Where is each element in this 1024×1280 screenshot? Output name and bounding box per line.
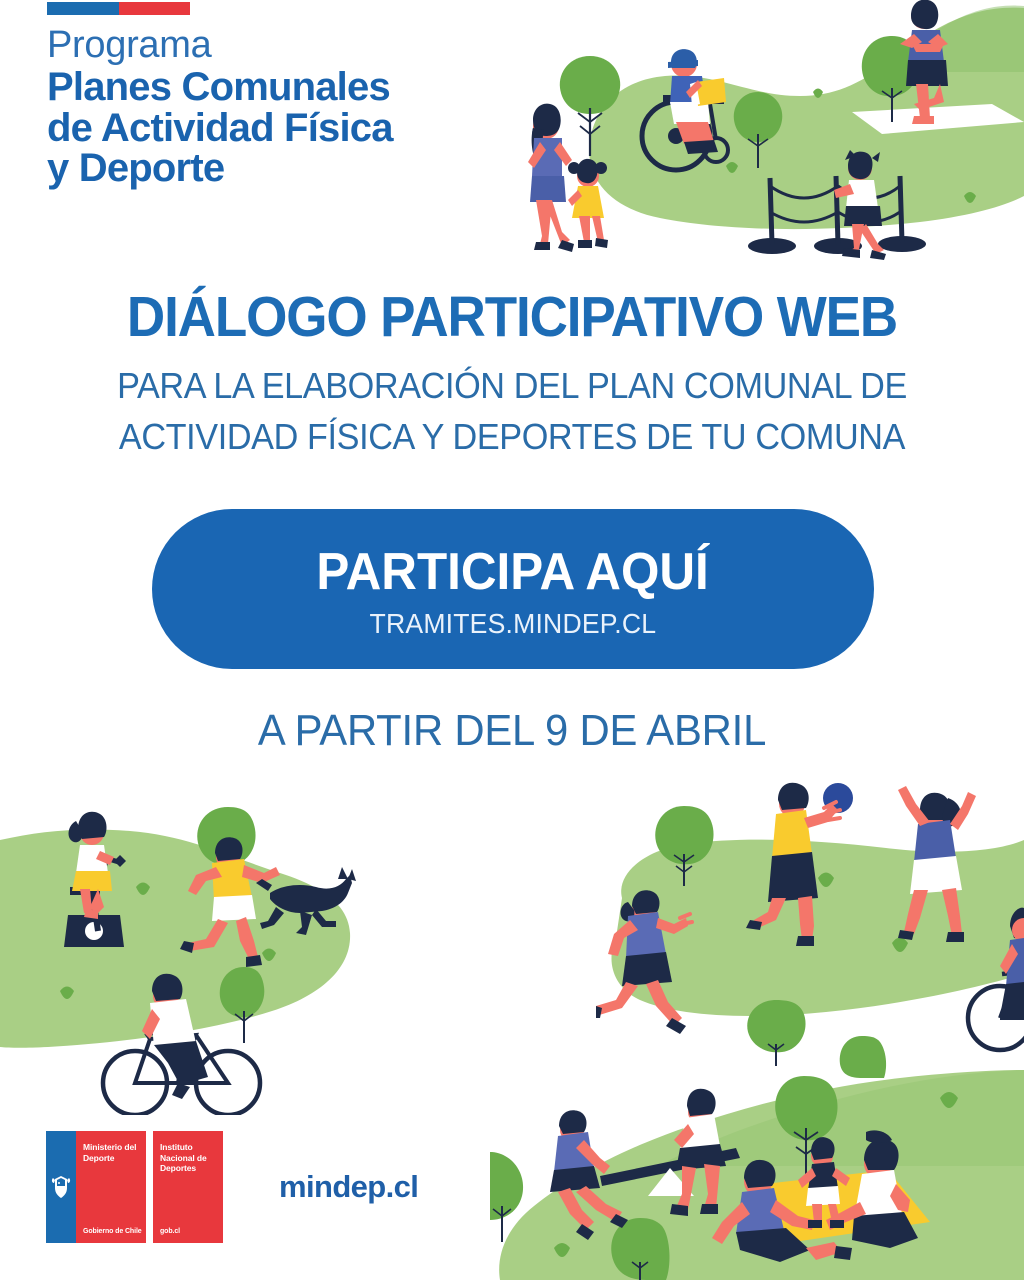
institute-gov: gob.cl [160,1228,180,1235]
ministry-panel: Ministerio del Deporte Gobierno de Chile [76,1131,146,1243]
date-notice: A PARTIR DEL 9 DE ABRIL [26,706,999,756]
website-link[interactable]: mindep.cl [279,1169,418,1205]
figure-mother [528,104,574,252]
program-label: Programa [47,26,393,65]
subtitle-line-2: ACTIVIDAD FÍSICA Y DEPORTES DE TU COMUNA [26,411,999,462]
ministry-gov: Gobierno de Chile [83,1228,142,1235]
participa-aqui-button[interactable]: PARTICIPA AQUÍ TRAMITES.MINDEP.CL [152,509,874,669]
subtitle-line-1: PARA LA ELABORACIÓN DEL PLAN COMUNAL DE [26,360,999,411]
bottom-left-illustration [0,795,380,1115]
bottom-right-illustration [596,778,1024,1078]
cta-label: PARTICIPA AQUÍ [317,546,709,598]
logo-divider [146,1131,153,1243]
coat-of-arms-panel [46,1131,76,1243]
headline-block: DIÁLOGO PARTICIPATIVO WEB PARA LA ELABOR… [0,288,1024,462]
figure-child-left [568,159,608,248]
top-right-illustration [500,0,1024,270]
ministry-name: Ministerio del Deporte [83,1142,142,1163]
cta-url: TRAMITES.MINDEP.CL [370,610,657,638]
page-title: DIÁLOGO PARTICIPATIVO WEB [36,288,988,348]
poster: Programa Planes Comunales de Actividad F… [0,0,1024,1280]
institute-panel: Instituto Nacional de Deportes gob.cl [153,1131,223,1243]
bottom-illustration [490,1070,1024,1280]
program-name-line1: Planes Comunales [47,67,393,108]
institute-name: Instituto Nacional de Deportes [160,1142,219,1174]
program-lockup: Programa Planes Comunales de Actividad F… [47,26,393,189]
program-name-line3: y Deporte [47,148,393,189]
footer-logos: Ministerio del Deporte Gobierno de Chile… [46,1131,418,1243]
rope-course [748,176,926,254]
chile-flag-bar [47,2,190,15]
escudo-icon [50,1174,72,1200]
flag-red-half [119,2,191,15]
government-logo: Ministerio del Deporte Gobierno de Chile… [46,1131,223,1243]
flag-blue-half [47,2,119,15]
program-name-line2: de Actividad Física [47,108,393,149]
